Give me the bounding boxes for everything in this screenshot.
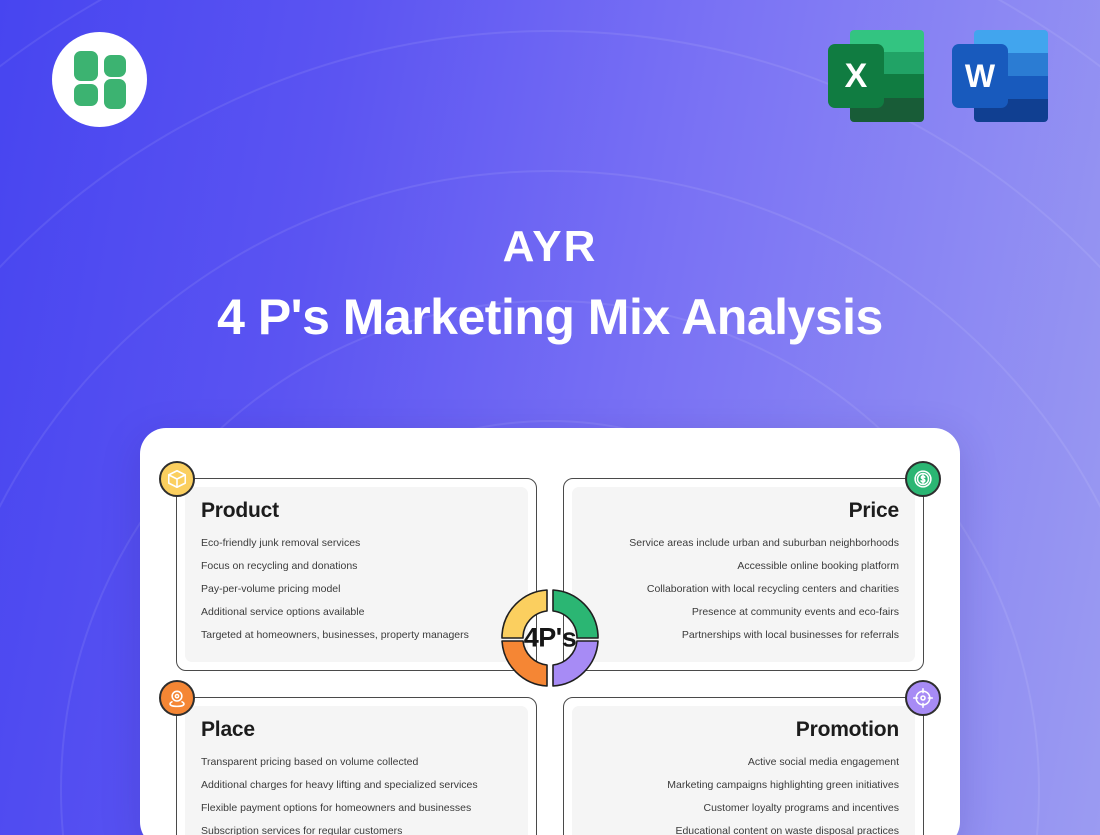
excel-icon[interactable]: X <box>828 30 924 122</box>
quadrant-title: Promotion <box>588 718 899 742</box>
list-item: Additional service options available <box>201 606 512 619</box>
list-item: Flexible payment options for homeowners … <box>201 802 512 815</box>
list-item: Additional charges for heavy lifting and… <box>201 779 512 792</box>
quadrant-title: Place <box>201 718 512 742</box>
hero-titles: AYR 4 P's Marketing Mix Analysis <box>0 222 1100 346</box>
brand-logo[interactable] <box>52 32 147 127</box>
list-item: Educational content on waste disposal pr… <box>588 825 899 835</box>
quadrant-list: Transparent pricing based on volume coll… <box>201 756 512 835</box>
list-item: Eco-friendly junk removal services <box>201 537 512 550</box>
quadrant-list: Eco-friendly junk removal services Focus… <box>201 537 512 652</box>
quadrant-list: Active social media engagement Marketing… <box>588 756 899 835</box>
list-item: Partnerships with local businesses for r… <box>588 629 899 642</box>
diagram-card: Product Eco-friendly junk removal servic… <box>140 428 960 835</box>
brand-title: AYR <box>0 222 1100 273</box>
list-item: Collaboration with local recycling cente… <box>588 583 899 596</box>
quadrant-title: Product <box>201 499 512 523</box>
target-crosshair-icon <box>905 680 941 716</box>
donut-slice-place <box>502 641 547 686</box>
list-item: Presence at community events and eco-fai… <box>588 606 899 619</box>
word-icon-letter: W <box>952 44 1008 108</box>
donut-slice-promotion <box>553 641 598 686</box>
donut-chart-svg <box>488 576 612 700</box>
quadrant-price[interactable]: Price Service areas include urban and su… <box>563 478 924 671</box>
excel-icon-letter: X <box>828 44 884 108</box>
list-item: Targeted at homeowners, businesses, prop… <box>201 629 512 642</box>
list-item: Active social media engagement <box>588 756 899 769</box>
quadrant-promotion[interactable]: Promotion Active social media engagement… <box>563 697 924 835</box>
donut-slice-product <box>502 590 547 638</box>
list-item: Pay-per-volume pricing model <box>201 583 512 596</box>
grid-squares-logo-icon <box>74 54 126 106</box>
list-item: Focus on recycling and donations <box>201 560 512 573</box>
list-item: Transparent pricing based on volume coll… <box>201 756 512 769</box>
list-item: Service areas include urban and suburban… <box>588 537 899 550</box>
dollar-coin-icon <box>905 461 941 497</box>
location-pin-icon <box>159 680 195 716</box>
list-item: Marketing campaigns highlighting green i… <box>588 779 899 792</box>
office-export-icons: X W <box>828 30 1048 122</box>
word-icon[interactable]: W <box>952 30 1048 122</box>
package-box-icon <box>159 461 195 497</box>
quadrant-list: Service areas include urban and suburban… <box>588 537 899 652</box>
donut-slice-price <box>553 590 598 638</box>
quadrant-place[interactable]: Place Transparent pricing based on volum… <box>176 697 537 835</box>
list-item: Accessible online booking platform <box>588 560 899 573</box>
list-item: Customer loyalty programs and incentives <box>588 802 899 815</box>
quadrant-title: Price <box>588 499 899 523</box>
page-title: 4 P's Marketing Mix Analysis <box>0 289 1100 347</box>
list-item: Subscription services for regular custom… <box>201 825 512 835</box>
quadrant-product[interactable]: Product Eco-friendly junk removal servic… <box>176 478 537 671</box>
page-root: X W AYR 4 P's Marketing Mix Analysis <box>0 0 1100 835</box>
donut-chart: 4P's <box>488 576 612 700</box>
